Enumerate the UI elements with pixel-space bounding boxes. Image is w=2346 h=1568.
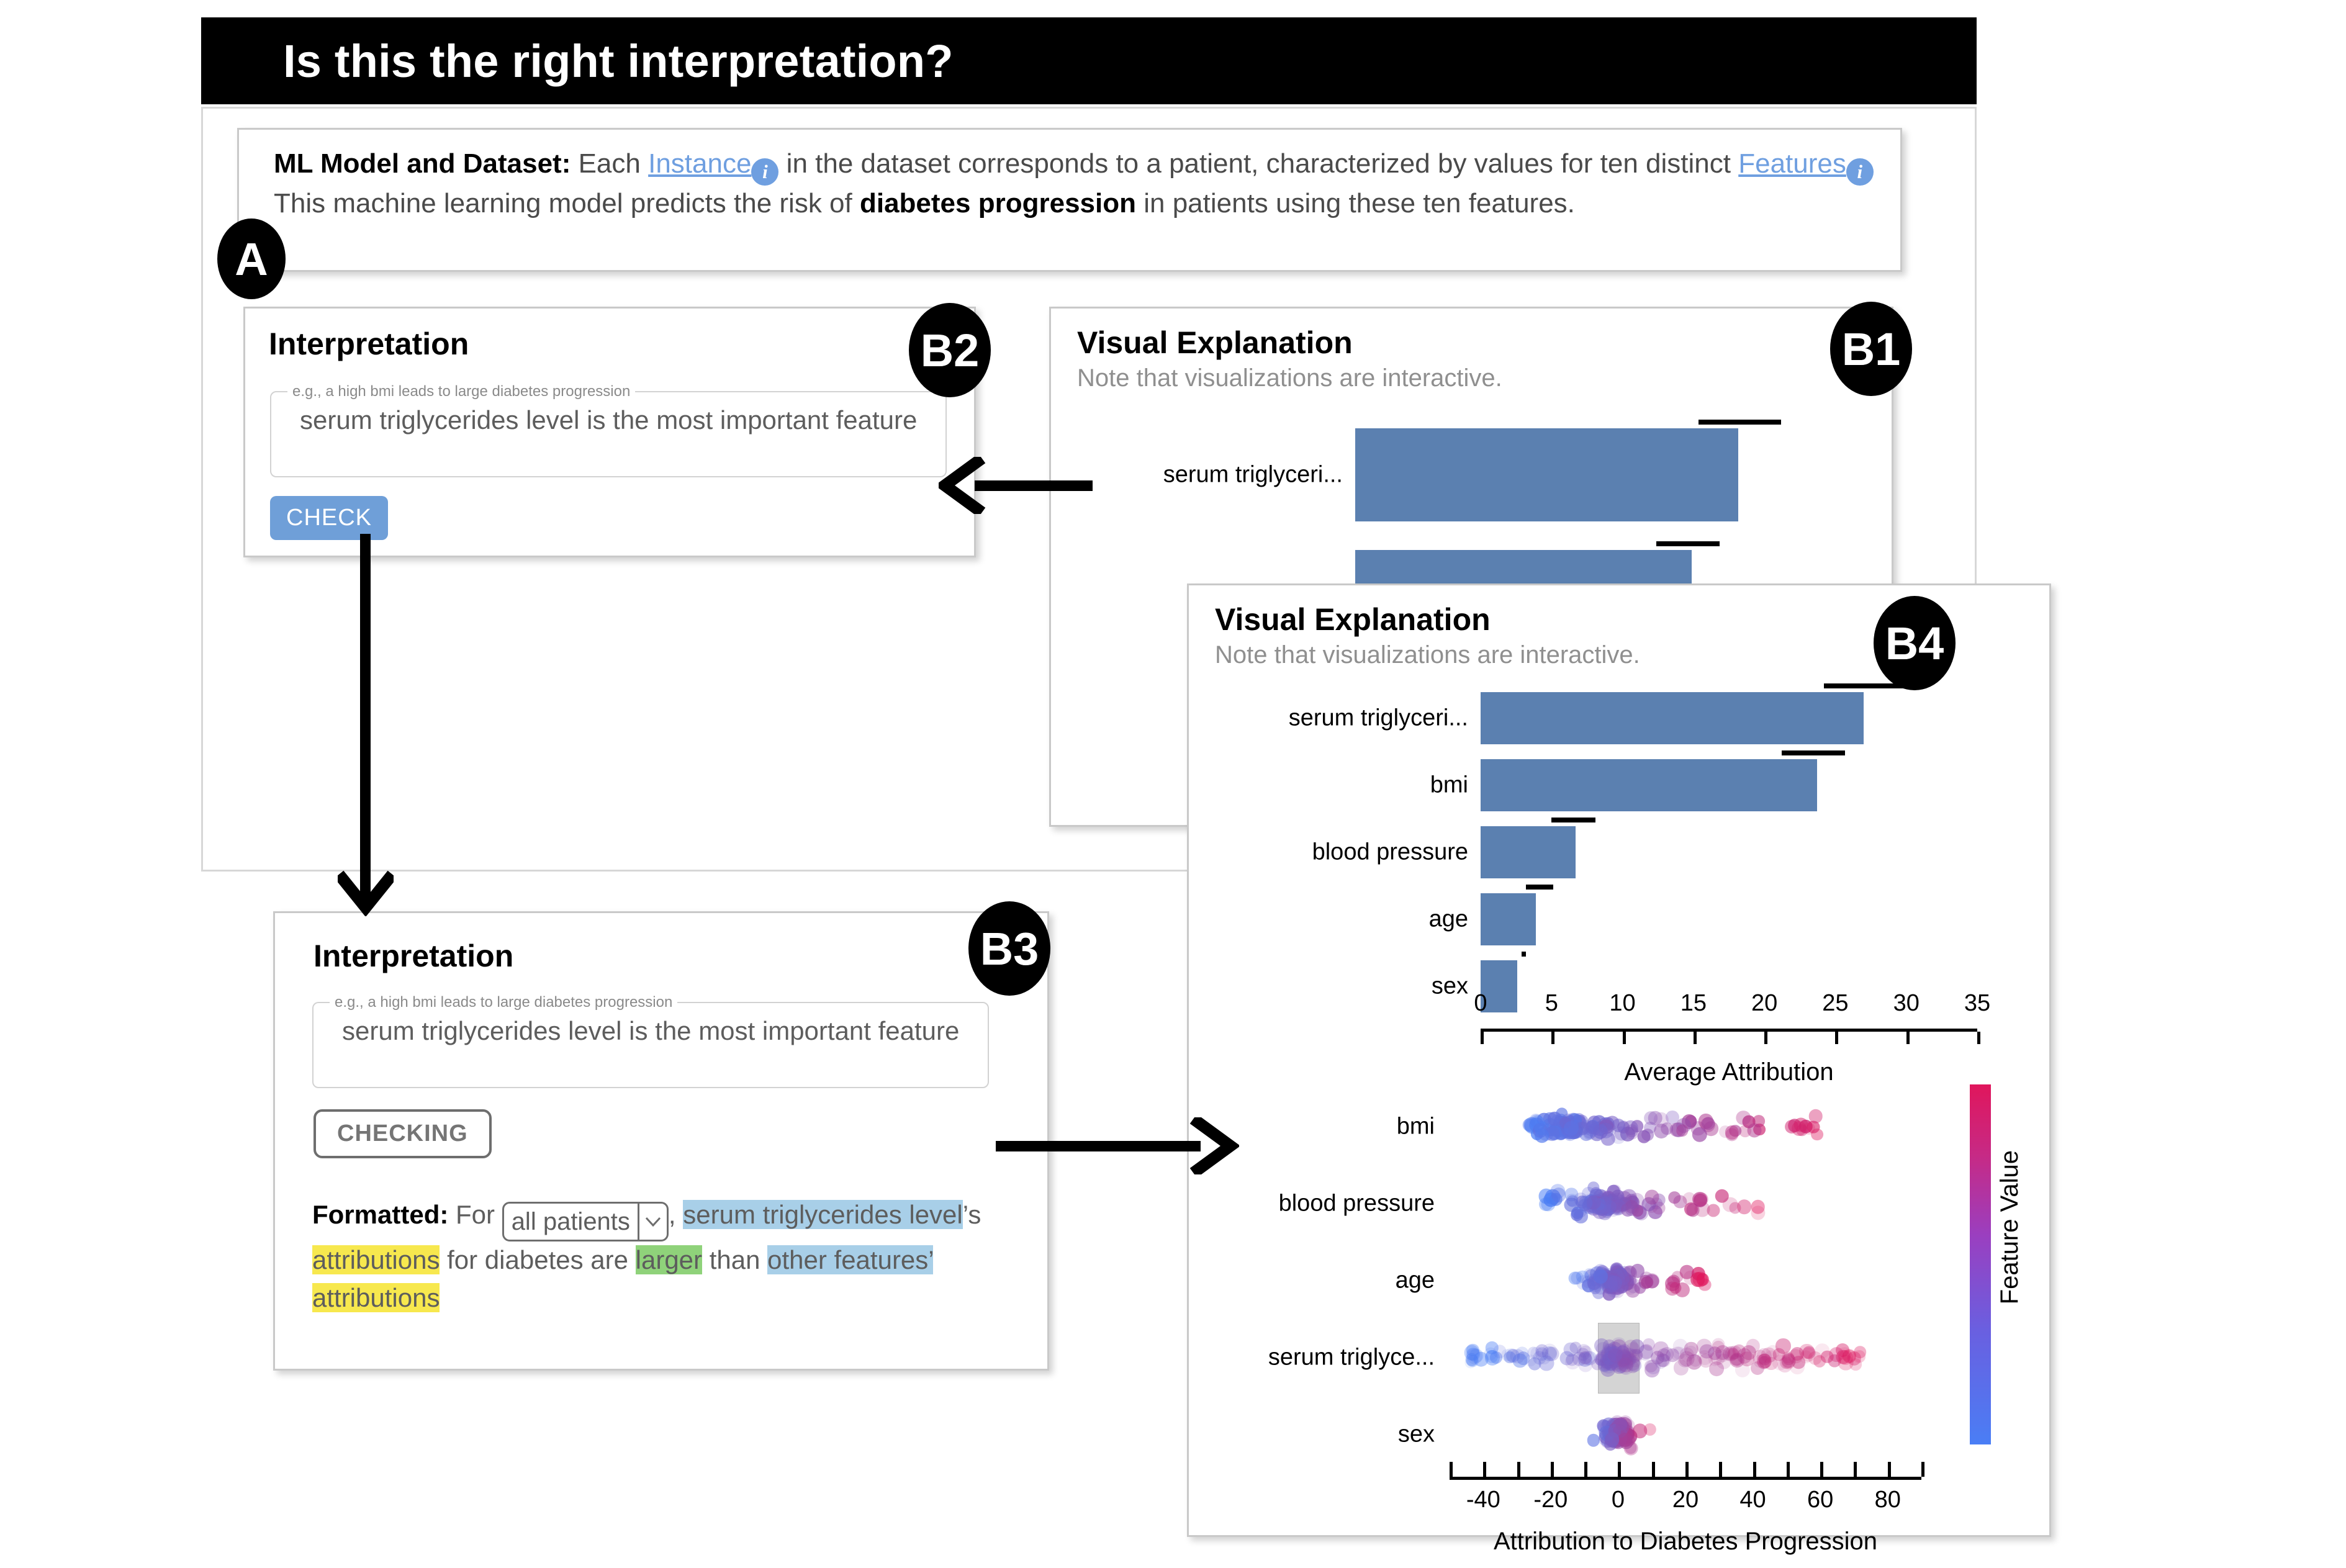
arrow-head-down-icon [338, 869, 394, 916]
x-axis-tick [1977, 1032, 1980, 1044]
x-axis-tick [1835, 1032, 1838, 1044]
ml-model-dataset-panel: ML Model and Dataset: Each Instancei in … [237, 128, 1902, 272]
bar[interactable] [1481, 893, 1536, 945]
highlight-feature: other features’ [767, 1245, 933, 1274]
beeswarm-point [1697, 1350, 1712, 1365]
info-icon[interactable]: i [1846, 158, 1874, 186]
checking-button[interactable]: CHECKING [314, 1109, 492, 1158]
badge-b4: B4 [1874, 596, 1956, 690]
x-axis-tick-label: 10 [1609, 990, 1635, 1017]
beeswarm-point [1808, 1109, 1823, 1124]
highlight-attribution: attributions [312, 1283, 440, 1312]
interpretation-heading: Interpretation [269, 326, 469, 362]
x-axis-tick [1888, 1462, 1891, 1477]
x-axis-tick [1551, 1032, 1554, 1044]
interpretation-panel-b3: Interpretation e.g., a high bmi leads to… [273, 911, 1049, 1371]
beeswarm-point [1645, 1190, 1659, 1204]
x-axis-minor-tick [1854, 1462, 1857, 1477]
arrow-head-left-icon [939, 457, 988, 514]
average-attribution-bar-chart-b4[interactable]: serum triglyceri...bmiblood pressureages… [1189, 678, 2053, 1063]
beeswarm-point [1854, 1346, 1866, 1358]
x-axis-tick [1906, 1032, 1910, 1044]
beeswarm-point [1747, 1124, 1761, 1138]
interpretation-textbox-b3[interactable]: e.g., a high bmi leads to large diabetes… [312, 994, 989, 1088]
beeswarm-point [1737, 1200, 1752, 1215]
beeswarm-point [1782, 1354, 1796, 1368]
ml-model-dataset-label: ML Model and Dataset: [274, 148, 571, 179]
x-axis-tick [1618, 1462, 1621, 1477]
highlight-comparator: larger [636, 1245, 702, 1274]
bar[interactable] [1355, 428, 1738, 521]
beeswarm-point [1641, 1129, 1654, 1141]
beeswarm-row-label: serum triglyce... [1189, 1345, 1435, 1371]
badge-b1: B1 [1830, 302, 1912, 396]
beeswarm-point [1686, 1204, 1699, 1217]
visual-explanation-subheading: Note that visualizations are interactive… [1215, 641, 1640, 669]
x-axis-tick [1820, 1462, 1823, 1477]
beeswarm-point [1730, 1354, 1743, 1366]
x-axis-tick-label: 0 [1474, 990, 1487, 1017]
features-link[interactable]: Features [1738, 148, 1846, 179]
arrow-b2-to-b3 [360, 534, 371, 900]
formatted-label: Formatted: [312, 1200, 448, 1229]
beeswarm-point [1601, 1132, 1615, 1146]
error-bar [1782, 750, 1846, 755]
x-axis-tick-label: -20 [1533, 1487, 1568, 1513]
bar-label: sex [1189, 973, 1468, 1000]
x-axis-minor-tick [1719, 1462, 1722, 1477]
bar[interactable] [1481, 759, 1817, 811]
error-bar [1551, 818, 1595, 822]
beeswarm-point [1594, 1269, 1607, 1283]
interpretation-placeholder: e.g., a high bmi leads to large diabetes… [287, 383, 635, 400]
beeswarm-row-label: age [1189, 1268, 1435, 1294]
interpretation-panel-b2: Interpretation e.g., a high bmi leads to… [243, 307, 976, 557]
x-axis-tick-label: 15 [1681, 990, 1707, 1017]
visual-explanation-panel-b4: Visual Explanation Note that visualizati… [1187, 583, 2051, 1537]
beeswarm-point [1582, 1275, 1594, 1287]
formatted-sentence: Formatted: For all patients, serum trigl… [312, 1196, 1008, 1317]
x-axis-tick [1551, 1462, 1554, 1477]
x-axis-tick-label: 20 [1751, 990, 1777, 1017]
instance-link[interactable]: Instance [648, 148, 751, 179]
visual-explanation-heading: Visual Explanation [1215, 602, 1491, 638]
x-axis-tick-label: 20 [1672, 1487, 1699, 1513]
beeswarm-point [1605, 1432, 1620, 1447]
x-axis-tick-label: 30 [1893, 990, 1920, 1017]
x-axis-tick-label: 0 [1612, 1487, 1625, 1513]
beeswarm-point [1569, 1341, 1581, 1353]
interpretation-value: serum triglycerides level is the most im… [279, 404, 938, 445]
beeswarm-point [1751, 1200, 1766, 1214]
page-title: Is this the right interpretation? [283, 35, 954, 88]
x-axis-tick-label: 25 [1822, 990, 1848, 1017]
x-axis-tick-label: -40 [1466, 1487, 1500, 1513]
beeswarm-point [1565, 1355, 1580, 1370]
beeswarm-point [1716, 1349, 1729, 1362]
beeswarm-point [1541, 1197, 1555, 1211]
arrow-head-right-icon [1187, 1117, 1239, 1174]
highlight-attribution: attributions [312, 1245, 440, 1274]
beeswarm-point [1564, 1121, 1579, 1136]
x-axis-tick [1764, 1032, 1767, 1044]
interpretation-heading: Interpretation [314, 938, 513, 974]
x-axis-minor-tick [1652, 1462, 1655, 1477]
beeswarm-point [1535, 1129, 1549, 1143]
interpretation-value: serum triglycerides level is the most im… [321, 1015, 980, 1056]
beeswarm-point [1621, 1203, 1635, 1217]
attribution-beeswarm-plot[interactable]: bmiblood pressureageserum triglyce...sex… [1189, 1076, 2053, 1523]
beeswarm-point [1617, 1120, 1629, 1132]
interpretation-placeholder: e.g., a high bmi leads to large diabetes… [330, 994, 677, 1011]
x-axis-minor-tick [1584, 1462, 1587, 1477]
beeswarm-point [1838, 1355, 1854, 1371]
x-axis-tick-label: 60 [1807, 1487, 1833, 1513]
error-bar [1522, 952, 1526, 957]
x-axis-tick-label: 5 [1545, 990, 1558, 1017]
badge-b3: B3 [968, 901, 1050, 996]
beeswarm-point [1675, 1282, 1690, 1297]
bar-label: age [1189, 906, 1468, 933]
x-axis-tick [1694, 1032, 1697, 1044]
patient-scope-select[interactable]: all patients [502, 1202, 669, 1241]
beeswarm-point [1800, 1350, 1813, 1363]
badge-b2: B2 [909, 303, 991, 397]
feature-value-colorbar [1970, 1084, 1991, 1444]
x-axis-line [1450, 1477, 1921, 1480]
beeswarm-row-label: blood pressure [1189, 1191, 1435, 1217]
x-axis-tick [1753, 1462, 1756, 1477]
x-axis-tick [1685, 1462, 1689, 1477]
bar-label: serum triglyceri... [1189, 705, 1468, 732]
bar-label: blood pressure [1189, 839, 1468, 866]
bar-label: bmi [1189, 772, 1468, 799]
x-axis-tick-label: 35 [1964, 990, 1990, 1017]
beeswarm-point [1608, 1348, 1623, 1363]
x-axis-tick [1623, 1032, 1626, 1044]
x-axis-minor-tick [1787, 1462, 1790, 1477]
beeswarm-point [1676, 1124, 1689, 1137]
x-axis-minor-tick [1517, 1462, 1520, 1477]
x-axis-minor-tick [1921, 1462, 1924, 1477]
arrow-b3-to-b4 [996, 1141, 1201, 1151]
arrow-b1-to-b2 [975, 480, 1093, 491]
chevron-down-icon [638, 1204, 667, 1240]
bar[interactable] [1481, 692, 1864, 744]
x-axis-tick [1483, 1462, 1486, 1477]
badge-a: A [217, 219, 286, 299]
interpretation-textbox-b2[interactable]: e.g., a high bmi leads to large diabetes… [270, 383, 947, 477]
x-axis-minor-tick [1450, 1462, 1453, 1477]
page-title-bar: Is this the right interpretation? [201, 17, 1977, 104]
info-icon[interactable]: i [751, 158, 778, 186]
x-axis-tick [1481, 1032, 1484, 1044]
beeswarm-point [1674, 1360, 1689, 1375]
error-bar [1526, 885, 1553, 890]
beeswarm-point [1661, 1122, 1673, 1135]
beeswarm-point [1571, 1209, 1583, 1221]
beeswarm-point [1504, 1351, 1516, 1364]
highlight-feature: serum triglycerides level [683, 1200, 962, 1229]
beeswarm-point [1692, 1272, 1708, 1287]
beeswarm-point [1723, 1197, 1738, 1212]
patient-scope-value: all patients [504, 1204, 638, 1240]
beeswarm-row-label: sex [1189, 1422, 1435, 1448]
bar[interactable] [1481, 826, 1576, 878]
error-bar [1656, 541, 1720, 546]
beeswarm-point [1644, 1111, 1658, 1125]
x-axis-line [1481, 1029, 1977, 1032]
feature-value-colorbar-label: Feature Value [1996, 1150, 2024, 1304]
x-axis-tick-label: 40 [1739, 1487, 1766, 1513]
bar-label: serum triglyceri... [1051, 462, 1343, 489]
ml-model-dataset-text: ML Model and Dataset: Each Instancei in … [239, 130, 1900, 228]
x-axis-tick-label: 80 [1875, 1487, 1901, 1513]
x-axis-label: Attribution to Diabetes Progression [1450, 1528, 1921, 1556]
error-bar [1699, 420, 1781, 425]
diabetes-progression-text: diabetes progression [860, 188, 1136, 219]
beeswarm-point [1775, 1338, 1790, 1353]
beeswarm-point [1794, 1118, 1808, 1132]
